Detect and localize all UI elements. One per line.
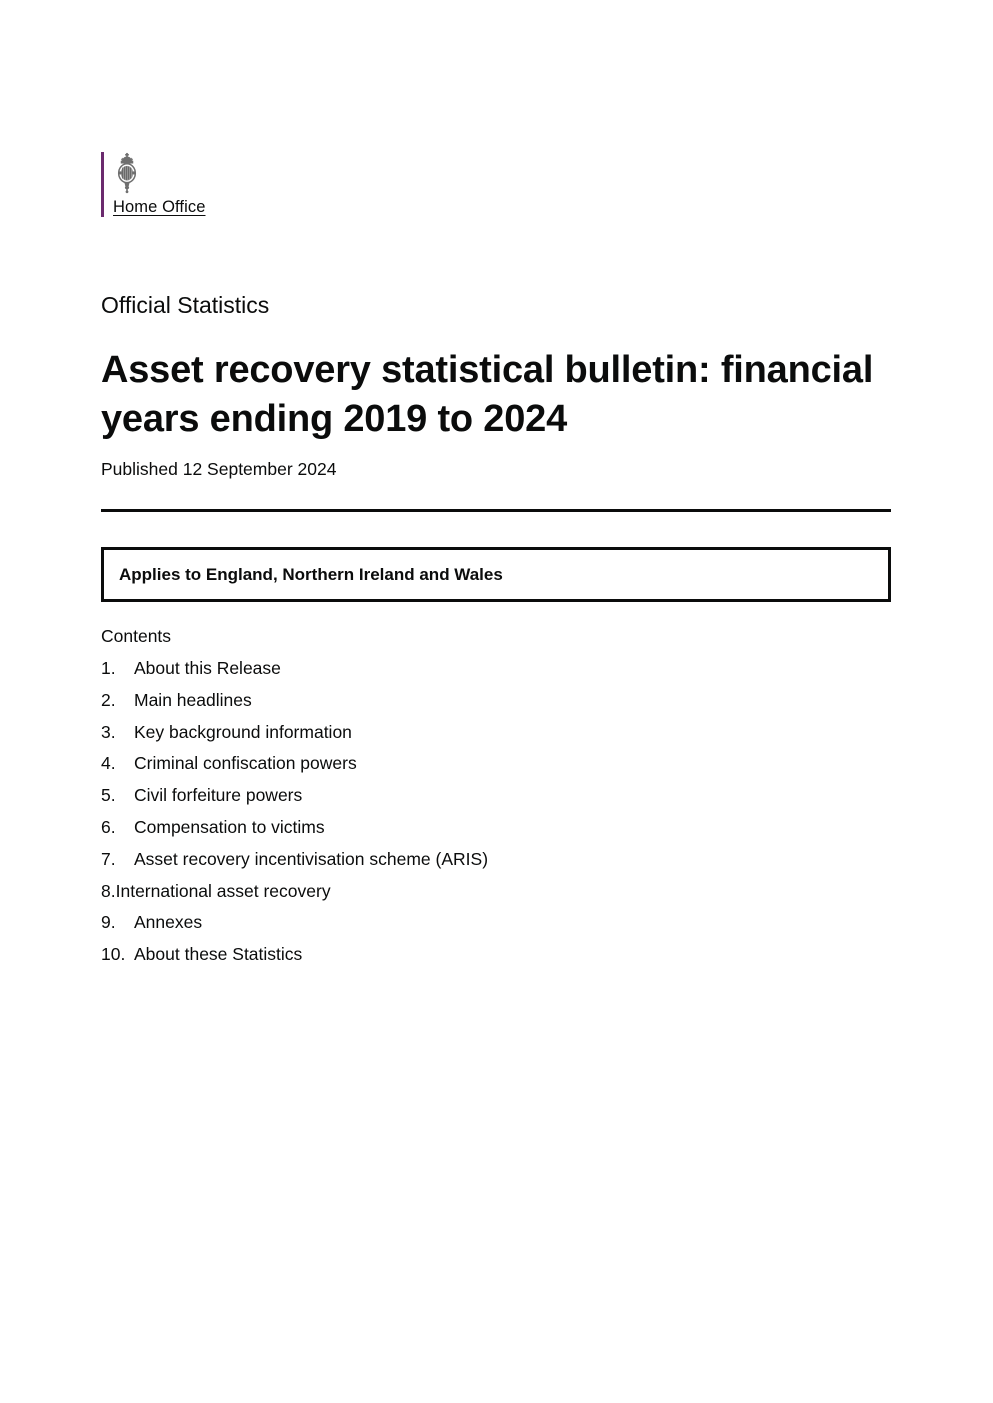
contents-item[interactable]: 4.Criminal confiscation powers (101, 752, 891, 784)
contents-item[interactable]: 5.Civil forfeiture powers (101, 784, 891, 816)
contents-item-number: 5. (101, 784, 134, 807)
contents-item-label: About this Release (134, 657, 281, 680)
contents-item-number: 4. (101, 752, 134, 775)
contents-item[interactable]: 1.About this Release (101, 657, 891, 689)
contents-item-number: 6. (101, 816, 134, 839)
contents-item-label: Annexes (134, 911, 202, 934)
royal-crest-icon (113, 152, 141, 196)
contents-item-number: 1. (101, 657, 134, 680)
contents-item[interactable]: 6.Compensation to victims (101, 816, 891, 848)
contents-item-label: Key background information (134, 721, 352, 744)
page-title: Asset recovery statistical bulletin: fin… (101, 346, 891, 444)
home-office-logo: Home Office (101, 152, 206, 217)
contents-item[interactable]: 9.Annexes (101, 911, 891, 943)
contents-item[interactable]: 8.International asset recovery (101, 880, 891, 912)
contents-item-number: 8. (101, 880, 116, 903)
contents-item[interactable]: 7.Asset recovery incentivisation scheme … (101, 848, 891, 880)
contents-item-label: Civil forfeiture powers (134, 784, 302, 807)
contents-list: 1.About this Release2.Main headlines3.Ke… (101, 657, 891, 975)
contents-item-number: 9. (101, 911, 134, 934)
contents-item-label: Criminal confiscation powers (134, 752, 357, 775)
contents-item-label: Compensation to victims (134, 816, 325, 839)
contents-item-label: International asset recovery (116, 880, 331, 903)
contents-item-number: 10. (101, 943, 134, 966)
applies-to-text: Applies to England, Northern Ireland and… (104, 564, 503, 586)
publication-date: Published 12 September 2024 (101, 457, 336, 481)
contents-item-label: About these Statistics (134, 943, 302, 966)
contents-item[interactable]: 3.Key background information (101, 721, 891, 753)
contents-item[interactable]: 2.Main headlines (101, 689, 891, 721)
header-divider (101, 509, 891, 512)
contents-heading: Contents (101, 624, 171, 648)
contents-item-number: 3. (101, 721, 134, 744)
organisation-name: Home Office (113, 197, 206, 217)
document-page: Home Office Official Statistics Asset re… (0, 0, 993, 1403)
logo-inner: Home Office (104, 152, 206, 217)
contents-item-label: Asset recovery incentivisation scheme (A… (134, 848, 488, 871)
applies-to-box: Applies to England, Northern Ireland and… (101, 547, 891, 602)
contents-item-label: Main headlines (134, 689, 252, 712)
contents-item[interactable]: 10.About these Statistics (101, 943, 891, 975)
statistics-type-label: Official Statistics (101, 291, 269, 319)
contents-item-number: 2. (101, 689, 134, 712)
contents-item-number: 7. (101, 848, 134, 871)
